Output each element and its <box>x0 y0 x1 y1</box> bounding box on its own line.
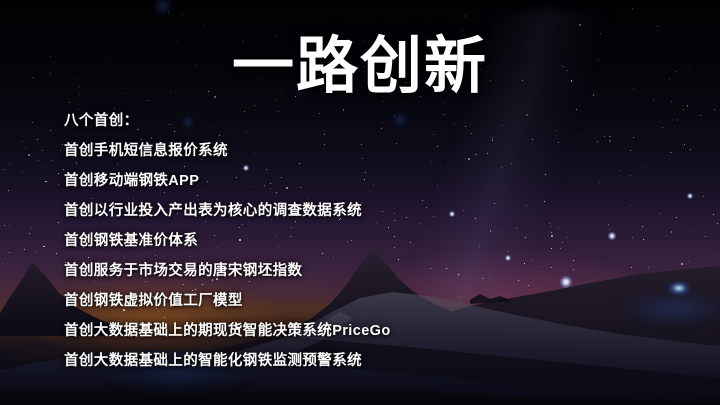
presentation-slide: 一路创新 八个首创： 首创手机短信息报价系统 首创移动端钢铁APP 首创以行业投… <box>0 0 720 405</box>
bullet-item-8: 首创大数据基础上的智能化钢铁监测预警系统 <box>64 346 664 376</box>
bullet-item-1: 首创手机短信息报价系统 <box>64 136 664 166</box>
bullet-item-2: 首创移动端钢铁APP <box>64 166 664 196</box>
bullet-list: 八个首创： 首创手机短信息报价系统 首创移动端钢铁APP 首创以行业投入产出表为… <box>64 106 664 376</box>
bullet-item-7: 首创大数据基础上的期现货智能决策系统PriceGo <box>64 316 664 346</box>
bullet-lead: 八个首创： <box>64 106 664 136</box>
bullet-item-3: 首创以行业投入产出表为核心的调查数据系统 <box>64 196 664 226</box>
bullet-item-4: 首创钢铁基准价体系 <box>64 226 664 256</box>
bullet-item-5: 首创服务于市场交易的唐宋钢坯指数 <box>64 256 664 286</box>
slide-title: 一路创新 <box>0 32 720 102</box>
bullet-item-6: 首创钢铁虚拟价值工厂模型 <box>64 286 664 316</box>
